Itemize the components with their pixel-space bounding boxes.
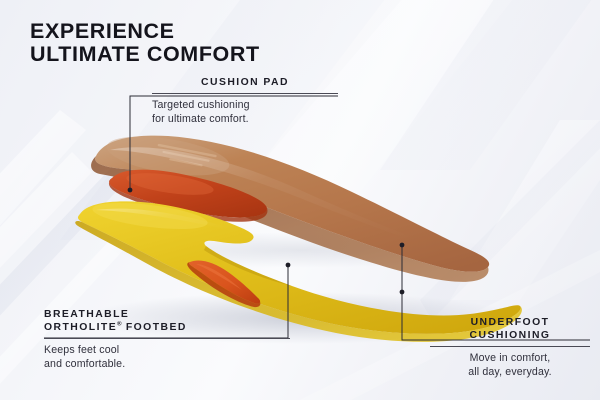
callout-cushion-pad: CUSHION PAD Targeted cushioning for ulti… [152,76,338,127]
callout-underfoot: UNDERFOOT CUSHIONING Move in comfort, al… [430,316,590,380]
callout-underfoot-body: Move in comfort, all day, everyday. [430,352,590,380]
callout-ortholite: BREATHABLEORTHOLITE® FOOTBED Keeps feet … [44,308,290,372]
callout-ortholite-rule [44,338,290,339]
callout-ortholite-heading-line1: BREATHABLE [44,309,129,320]
callout-cushion-pad-rule [152,93,338,94]
callout-underfoot-rule [430,346,590,347]
product-infographic: EXPERIENCE ULTIMATE COMFORT [0,0,600,400]
callout-ortholite-heading-line2: ORTHOLITE [44,322,117,333]
callout-ortholite-heading: BREATHABLEORTHOLITE® FOOTBED [44,308,290,334]
callout-cushion-pad-heading: CUSHION PAD [152,76,338,89]
callout-underfoot-heading: UNDERFOOT CUSHIONING [430,316,590,342]
callout-ortholite-heading-line2-tail: FOOTBED [122,322,187,333]
callout-cushion-pad-body: Targeted cushioning for ultimate comfort… [152,99,338,127]
callout-ortholite-body: Keeps feet cool and comfortable. [44,344,290,372]
